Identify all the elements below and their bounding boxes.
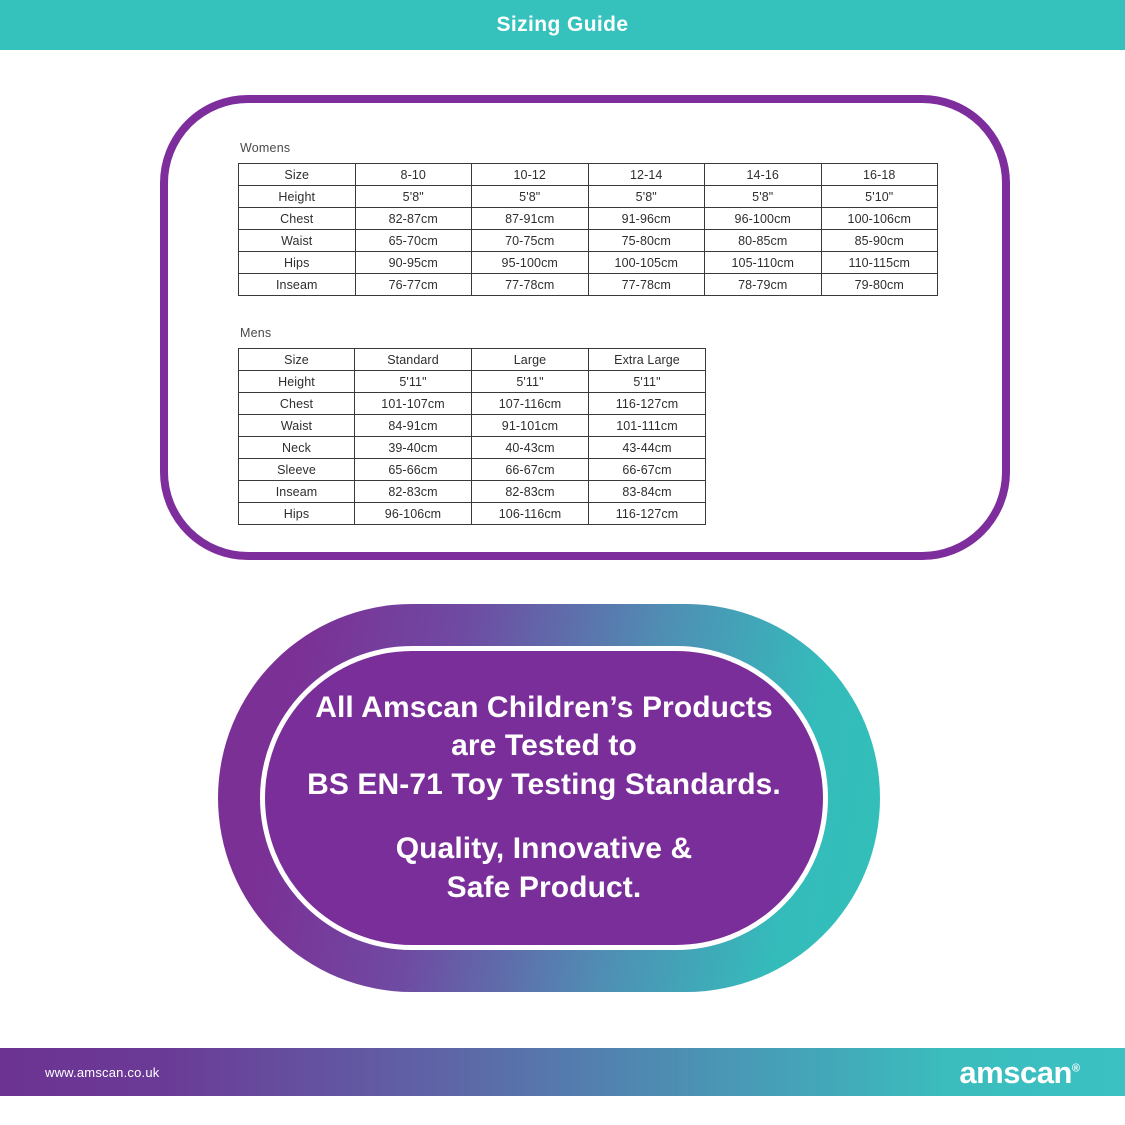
table-cell: 110-115cm [821, 252, 938, 274]
table-cell: 91-96cm [588, 208, 705, 230]
table-row: Hips 96-106cm 106-116cm 116-127cm [239, 503, 706, 525]
row-label: Inseam [239, 274, 356, 296]
table-cell: 90-95cm [355, 252, 472, 274]
table-cell: 8-10 [355, 164, 472, 186]
table-cell: 65-66cm [355, 459, 472, 481]
mens-table-caption: Mens [240, 326, 938, 340]
table-row: Hips 90-95cm 95-100cm 100-105cm 105-110c… [239, 252, 938, 274]
table-cell: 100-106cm [821, 208, 938, 230]
row-label: Neck [239, 437, 355, 459]
table-row: Size Standard Large Extra Large [239, 349, 706, 371]
table-cell: 101-111cm [589, 415, 706, 437]
safety-callout: All Amscan Children’s Products are Teste… [218, 604, 880, 992]
table-cell: 83-84cm [589, 481, 706, 503]
table-cell: 100-105cm [588, 252, 705, 274]
table-cell: 85-90cm [821, 230, 938, 252]
row-label: Chest [239, 208, 356, 230]
row-label: Height [239, 371, 355, 393]
row-label: Chest [239, 393, 355, 415]
row-label: Height [239, 186, 356, 208]
row-label: Hips [239, 503, 355, 525]
table-row: Neck 39-40cm 40-43cm 43-44cm [239, 437, 706, 459]
table-cell: 75-80cm [588, 230, 705, 252]
callout-body: All Amscan Children’s Products are Teste… [260, 646, 828, 950]
amscan-logo: amscan® [959, 1057, 1080, 1088]
table-row: Inseam 76-77cm 77-78cm 77-78cm 78-79cm 7… [239, 274, 938, 296]
page-title: Sizing Guide [497, 13, 629, 37]
table-cell: 106-116cm [472, 503, 589, 525]
table-cell: 77-78cm [472, 274, 589, 296]
table-cell: 87-91cm [472, 208, 589, 230]
table-cell: 105-110cm [705, 252, 822, 274]
table-cell: 107-116cm [472, 393, 589, 415]
table-row: Height 5'8" 5'8" 5'8" 5'8" 5'10" [239, 186, 938, 208]
table-row: Inseam 82-83cm 82-83cm 83-84cm [239, 481, 706, 503]
table-cell: 116-127cm [589, 503, 706, 525]
table-cell: 82-87cm [355, 208, 472, 230]
table-cell: 10-12 [472, 164, 589, 186]
table-cell: 5'8" [355, 186, 472, 208]
table-cell: 43-44cm [589, 437, 706, 459]
table-cell: 14-16 [705, 164, 822, 186]
row-label: Hips [239, 252, 356, 274]
table-cell: 77-78cm [588, 274, 705, 296]
row-label: Size [239, 164, 356, 186]
table-cell: 76-77cm [355, 274, 472, 296]
table-cell: 39-40cm [355, 437, 472, 459]
table-cell: 116-127cm [589, 393, 706, 415]
callout-line: All Amscan Children’s Products [307, 689, 781, 727]
table-cell: 12-14 [588, 164, 705, 186]
table-cell: 82-83cm [355, 481, 472, 503]
table-cell: 66-67cm [472, 459, 589, 481]
table-cell: 16-18 [821, 164, 938, 186]
table-cell: 95-100cm [472, 252, 589, 274]
table-cell: 5'8" [588, 186, 705, 208]
table-row: Sleeve 65-66cm 66-67cm 66-67cm [239, 459, 706, 481]
table-row: Chest 82-87cm 87-91cm 91-96cm 96-100cm 1… [239, 208, 938, 230]
womens-table-caption: Womens [240, 141, 938, 155]
table-cell: Standard [355, 349, 472, 371]
table-row: Chest 101-107cm 107-116cm 116-127cm [239, 393, 706, 415]
callout-line: BS EN-71 Toy Testing Standards. [307, 766, 781, 804]
table-cell: 5'8" [472, 186, 589, 208]
callout-paragraph-one: All Amscan Children’s Products are Teste… [307, 689, 781, 804]
table-cell: 5'11" [589, 371, 706, 393]
table-cell: 5'10" [821, 186, 938, 208]
table-cell: 5'11" [472, 371, 589, 393]
table-cell: 80-85cm [705, 230, 822, 252]
row-label: Inseam [239, 481, 355, 503]
table-spacer [238, 296, 938, 326]
table-cell: 82-83cm [472, 481, 589, 503]
callout-paragraph-two: Quality, Innovative & Safe Product. [396, 830, 693, 907]
table-cell: 78-79cm [705, 274, 822, 296]
table-cell: Extra Large [589, 349, 706, 371]
size-tables-container: Womens Size 8-10 10-12 12-14 14-16 16-18… [238, 141, 938, 525]
table-row: Size 8-10 10-12 12-14 14-16 16-18 [239, 164, 938, 186]
table-cell: Large [472, 349, 589, 371]
callout-line: Quality, Innovative & [396, 830, 693, 868]
row-label: Sleeve [239, 459, 355, 481]
womens-size-table: Size 8-10 10-12 12-14 14-16 16-18 Height… [238, 163, 938, 296]
table-cell: 40-43cm [472, 437, 589, 459]
table-cell: 91-101cm [472, 415, 589, 437]
footer-website-url[interactable]: www.amscan.co.uk [45, 1065, 159, 1080]
row-label: Size [239, 349, 355, 371]
row-label: Waist [239, 230, 356, 252]
callout-line: Safe Product. [396, 869, 693, 907]
table-cell: 96-100cm [705, 208, 822, 230]
table-cell: 70-75cm [472, 230, 589, 252]
amscan-logo-text: amscan [959, 1055, 1071, 1090]
table-cell: 101-107cm [355, 393, 472, 415]
registered-trademark-icon: ® [1072, 1062, 1080, 1074]
page-footer: www.amscan.co.uk amscan® [0, 1048, 1125, 1096]
mens-size-table: Size Standard Large Extra Large Height 5… [238, 348, 706, 525]
page-header: Sizing Guide [0, 0, 1125, 50]
size-tables-panel: Womens Size 8-10 10-12 12-14 14-16 16-18… [160, 95, 1010, 560]
table-row: Height 5'11" 5'11" 5'11" [239, 371, 706, 393]
table-row: Waist 84-91cm 91-101cm 101-111cm [239, 415, 706, 437]
table-cell: 84-91cm [355, 415, 472, 437]
table-row: Waist 65-70cm 70-75cm 75-80cm 80-85cm 85… [239, 230, 938, 252]
table-cell: 96-106cm [355, 503, 472, 525]
row-label: Waist [239, 415, 355, 437]
table-cell: 66-67cm [589, 459, 706, 481]
table-cell: 5'8" [705, 186, 822, 208]
table-cell: 79-80cm [821, 274, 938, 296]
table-cell: 65-70cm [355, 230, 472, 252]
table-cell: 5'11" [355, 371, 472, 393]
callout-line: are Tested to [307, 727, 781, 765]
